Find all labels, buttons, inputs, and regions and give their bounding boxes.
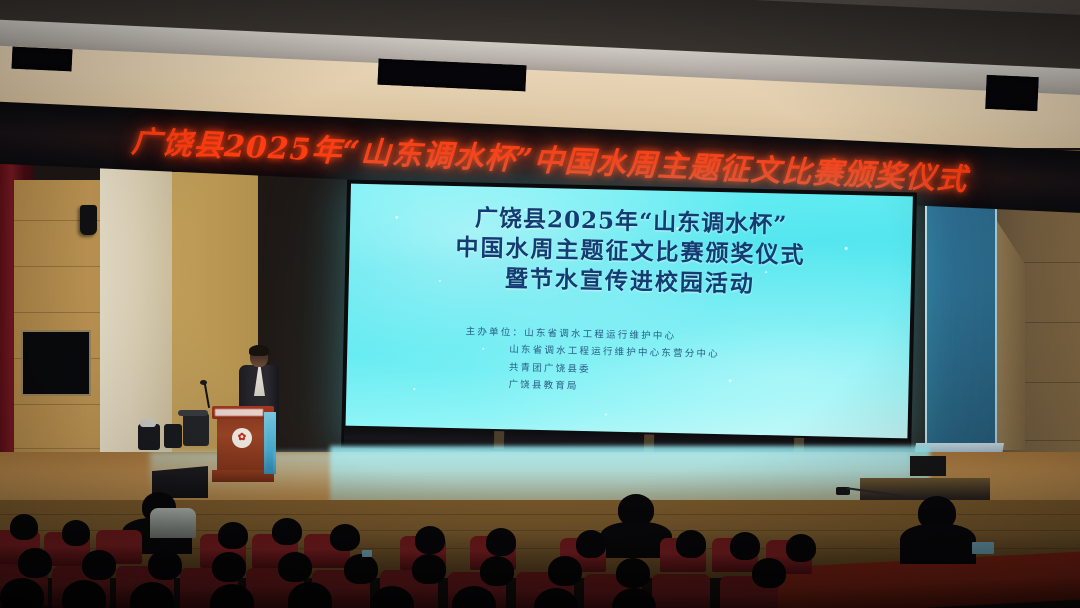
phone-screen bbox=[972, 542, 994, 554]
audience-head bbox=[272, 518, 302, 545]
audience-shoulders bbox=[900, 524, 976, 564]
podium-emblem: ✿ bbox=[232, 428, 252, 448]
phone-screen bbox=[362, 550, 372, 557]
audience-head bbox=[344, 554, 378, 584]
podium-emblem-glyph: ✿ bbox=[238, 433, 246, 443]
audience-head bbox=[548, 556, 582, 586]
led-screen-surface: 广饶县2025年“山东调水杯” 中国水周主题征文比赛颁奖仪式 暨节水宣传进校园活… bbox=[345, 184, 913, 457]
stage-light-head bbox=[140, 419, 156, 427]
ceiling-vent-right bbox=[985, 75, 1038, 111]
audience-head bbox=[676, 530, 706, 558]
speaker-hair bbox=[249, 345, 269, 356]
audience-head bbox=[212, 552, 246, 582]
seat bbox=[652, 574, 710, 608]
screen-title-block: 广饶县2025年“山东调水杯” 中国水周主题征文比赛颁奖仪式 暨节水宣传进校园活… bbox=[349, 201, 913, 303]
audience-head bbox=[415, 526, 445, 554]
audience-head bbox=[730, 532, 760, 560]
audience-head bbox=[0, 578, 44, 608]
wall-mounted-speaker bbox=[80, 205, 97, 235]
audience-head bbox=[278, 552, 312, 582]
ceiling-vent-left bbox=[12, 47, 73, 72]
audience-head bbox=[576, 530, 606, 558]
audience-head bbox=[148, 550, 182, 580]
audience-head bbox=[616, 558, 650, 588]
stage-light-fixture-1 bbox=[138, 424, 160, 450]
blue-standing-board bbox=[925, 185, 997, 447]
wall-pillar bbox=[100, 168, 172, 480]
podium-screen-light-spill bbox=[264, 412, 276, 474]
audience-head bbox=[62, 520, 90, 546]
audience-head bbox=[412, 554, 446, 584]
stage-light-fixture-2 bbox=[164, 424, 182, 448]
equipment-case bbox=[183, 413, 209, 446]
audience-head bbox=[486, 528, 516, 556]
audience-head bbox=[10, 514, 38, 540]
stage-floor-box-right bbox=[910, 456, 946, 476]
audience-head bbox=[752, 558, 786, 588]
audience-area bbox=[0, 490, 1080, 608]
podium-nameplate bbox=[215, 409, 263, 416]
audience-person-grey-jacket bbox=[150, 508, 196, 538]
led-screen: 广饶县2025年“山东调水杯” 中国水周主题征文比赛颁奖仪式 暨节水宣传进校园活… bbox=[341, 180, 917, 461]
podium: ✿ bbox=[212, 406, 274, 482]
audience-head bbox=[82, 550, 116, 580]
audience-head bbox=[786, 534, 816, 562]
audience-head bbox=[480, 556, 514, 586]
audience-head bbox=[18, 548, 52, 578]
audience-head bbox=[218, 522, 248, 549]
equipment-case-handle bbox=[178, 410, 208, 416]
auditorium-ceremony-photo: 广饶县2025年“山东调水杯”中国水周主题征文比赛颁奖仪式 广饶县2025年“山… bbox=[0, 0, 1080, 608]
wall-window-panel bbox=[21, 330, 91, 396]
audience-head bbox=[330, 524, 360, 551]
screen-organizer-block: 主办单位：山东省调水工程运行维护中心 山东省调水工程运行维护中心东营分中心 共青… bbox=[346, 320, 909, 403]
